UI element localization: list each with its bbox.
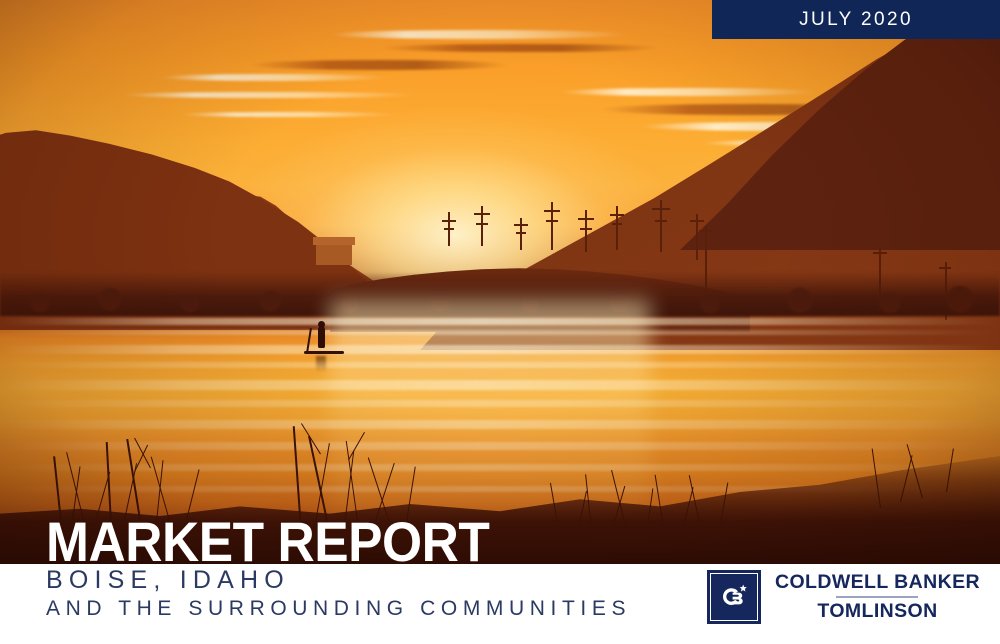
power-pylon: [514, 218, 528, 250]
brand-wordmark: COLDWELL BANKER TOMLINSON: [775, 571, 980, 623]
brand-divider: [836, 596, 918, 598]
power-pylon: [544, 202, 560, 250]
riverside-building: [316, 243, 352, 265]
cloud-streak-dark: [250, 60, 510, 70]
power-pylon: [578, 210, 594, 252]
cloud-streak-dark: [380, 44, 660, 52]
cloud-streak: [160, 74, 390, 81]
power-pylon: [652, 200, 670, 252]
power-pylon: [442, 212, 456, 246]
subtitle-communities: AND THE SURROUNDING COMMUNITIES: [46, 597, 631, 621]
date-banner: JULY 2020: [712, 0, 1000, 39]
hero-sunset-photo: [0, 0, 1000, 564]
paddleboarder-body: [318, 326, 325, 348]
power-pylon: [690, 214, 704, 260]
footer-band: BOISE, IDAHO AND THE SURROUNDING COMMUNI…: [0, 564, 1000, 644]
paddle: [306, 328, 312, 353]
cloud-streak: [180, 112, 400, 117]
date-banner-label: JULY 2020: [799, 9, 913, 31]
paddleboarder-silhouette: [296, 326, 354, 362]
cloud-streak: [560, 88, 820, 96]
paddleboard: [304, 351, 344, 354]
brand-name-primary: COLDWELL BANKER: [775, 571, 980, 594]
cb-star-icon: [707, 570, 761, 624]
power-pylon: [610, 206, 624, 250]
subtitle-location: BOISE, IDAHO: [46, 566, 290, 595]
brand-name-secondary: TOMLINSON: [817, 600, 937, 623]
power-pylon: [474, 206, 490, 246]
paddleboarder-reflection: [316, 356, 326, 372]
coldwell-banker-logo[interactable]: COLDWELL BANKER TOMLINSON: [707, 570, 980, 624]
market-report-cover: JULY 2020 MARKET REPORT BOISE, IDAHO AND…: [0, 0, 1000, 644]
cloud-streak: [330, 30, 630, 39]
page-title: MARKET REPORT: [46, 514, 489, 570]
cloud-streak: [120, 92, 420, 98]
